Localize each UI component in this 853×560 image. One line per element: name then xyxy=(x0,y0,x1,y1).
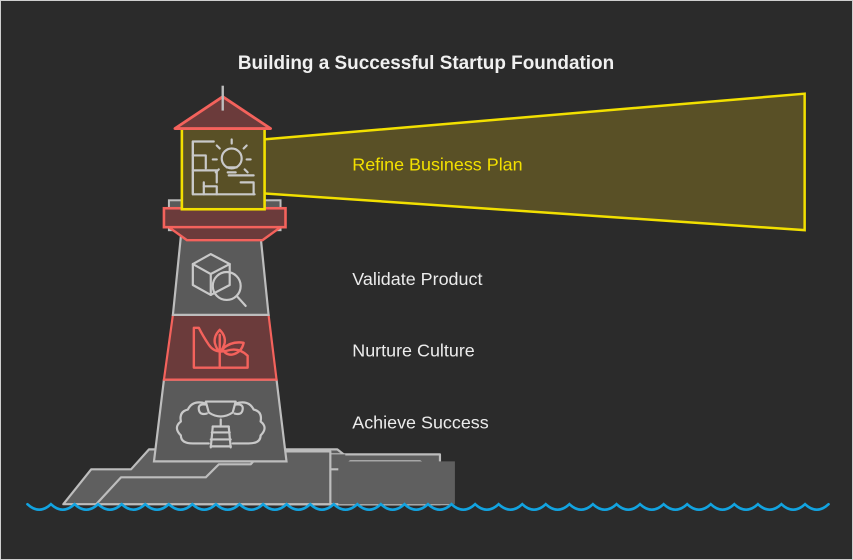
tier-lantern-room[interactable] xyxy=(182,128,265,210)
gallery-platform xyxy=(164,208,286,227)
stage-label-achieve-success[interactable]: Achieve Success xyxy=(352,412,489,432)
stage-label-validate-product[interactable]: Validate Product xyxy=(352,269,482,289)
wave-line xyxy=(27,504,828,509)
lantern-room-shape xyxy=(182,128,265,210)
page-title: Building a Successful Startup Foundation xyxy=(238,53,614,74)
stage-label-refine-business-plan[interactable]: Refine Business Plan xyxy=(352,154,522,174)
gallery-underside xyxy=(169,227,281,240)
lighthouse-roof xyxy=(175,86,271,129)
light-beam-shape xyxy=(263,94,805,231)
tier-mid-body[interactable] xyxy=(164,315,277,380)
light-beam[interactable] xyxy=(263,94,805,231)
lighthouse-infographic: Building a Successful Startup Foundation… xyxy=(1,1,852,559)
tier-lower-body[interactable] xyxy=(154,380,287,462)
diagram-canvas: Building a Successful Startup Foundation… xyxy=(0,0,853,560)
ocean-waves xyxy=(27,504,828,509)
stage-label-nurture-culture[interactable]: Nurture Culture xyxy=(352,341,475,361)
tier-upper-body[interactable] xyxy=(173,236,269,315)
rock-fill-patch-2 xyxy=(338,461,455,504)
upper-body-shape xyxy=(173,236,269,315)
